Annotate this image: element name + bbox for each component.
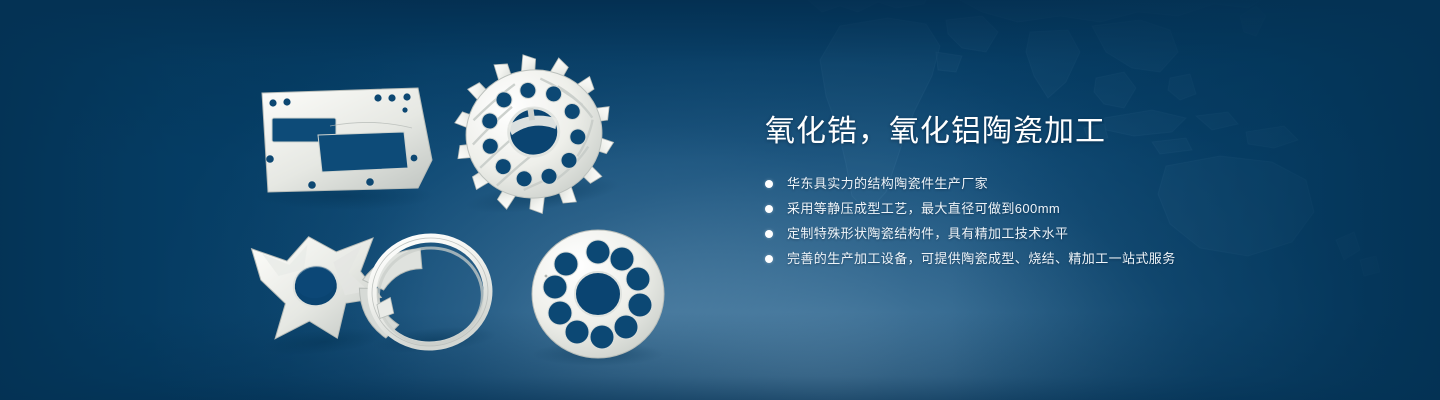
banner-headline: 氧化锆，氧化铝陶瓷加工 xyxy=(765,112,1385,152)
perforated-ceramic-disc xyxy=(532,230,664,366)
banner-copy-block: 氧化锆，氧化铝陶瓷加工 华东具实力的结构陶瓷件生产厂家 采用等静压成型工艺，最大… xyxy=(765,112,1385,267)
ceramic-processing-banner: 氧化锆，氧化铝陶瓷加工 华东具实力的结构陶瓷件生产厂家 采用等静压成型工艺，最大… xyxy=(0,0,1440,400)
machined-ceramic-plate xyxy=(255,88,435,210)
banner-feature-list: 华东具实力的结构陶瓷件生产厂家 采用等静压成型工艺，最大直径可做到600mm 定… xyxy=(765,176,1385,267)
feature-text: 定制特殊形状陶瓷结构件，具有精加工技术水平 xyxy=(787,226,1068,241)
ceramic-impeller xyxy=(443,44,625,225)
bullet-dot-icon xyxy=(765,255,773,263)
feature-item: 定制特殊形状陶瓷结构件，具有精加工技术水平 xyxy=(765,226,1385,242)
feature-text: 完善的生产加工设备，可提供陶瓷成型、烧结、精加工一站式服务 xyxy=(787,251,1176,266)
bullet-dot-icon xyxy=(765,205,773,213)
feature-item: 华东具实力的结构陶瓷件生产厂家 xyxy=(765,176,1385,192)
bullet-dot-icon xyxy=(765,180,773,188)
bullet-dot-icon xyxy=(765,230,773,238)
feature-item: 采用等静压成型工艺，最大直径可做到600mm xyxy=(765,201,1385,217)
feature-text: 采用等静压成型工艺，最大直径可做到600mm xyxy=(787,201,1060,216)
feature-text: 华东具实力的结构陶瓷件生产厂家 xyxy=(787,176,988,191)
ceramic-products-image xyxy=(0,0,720,400)
feature-item: 完善的生产加工设备，可提供陶瓷成型、烧结、精加工一站式服务 xyxy=(765,251,1385,267)
